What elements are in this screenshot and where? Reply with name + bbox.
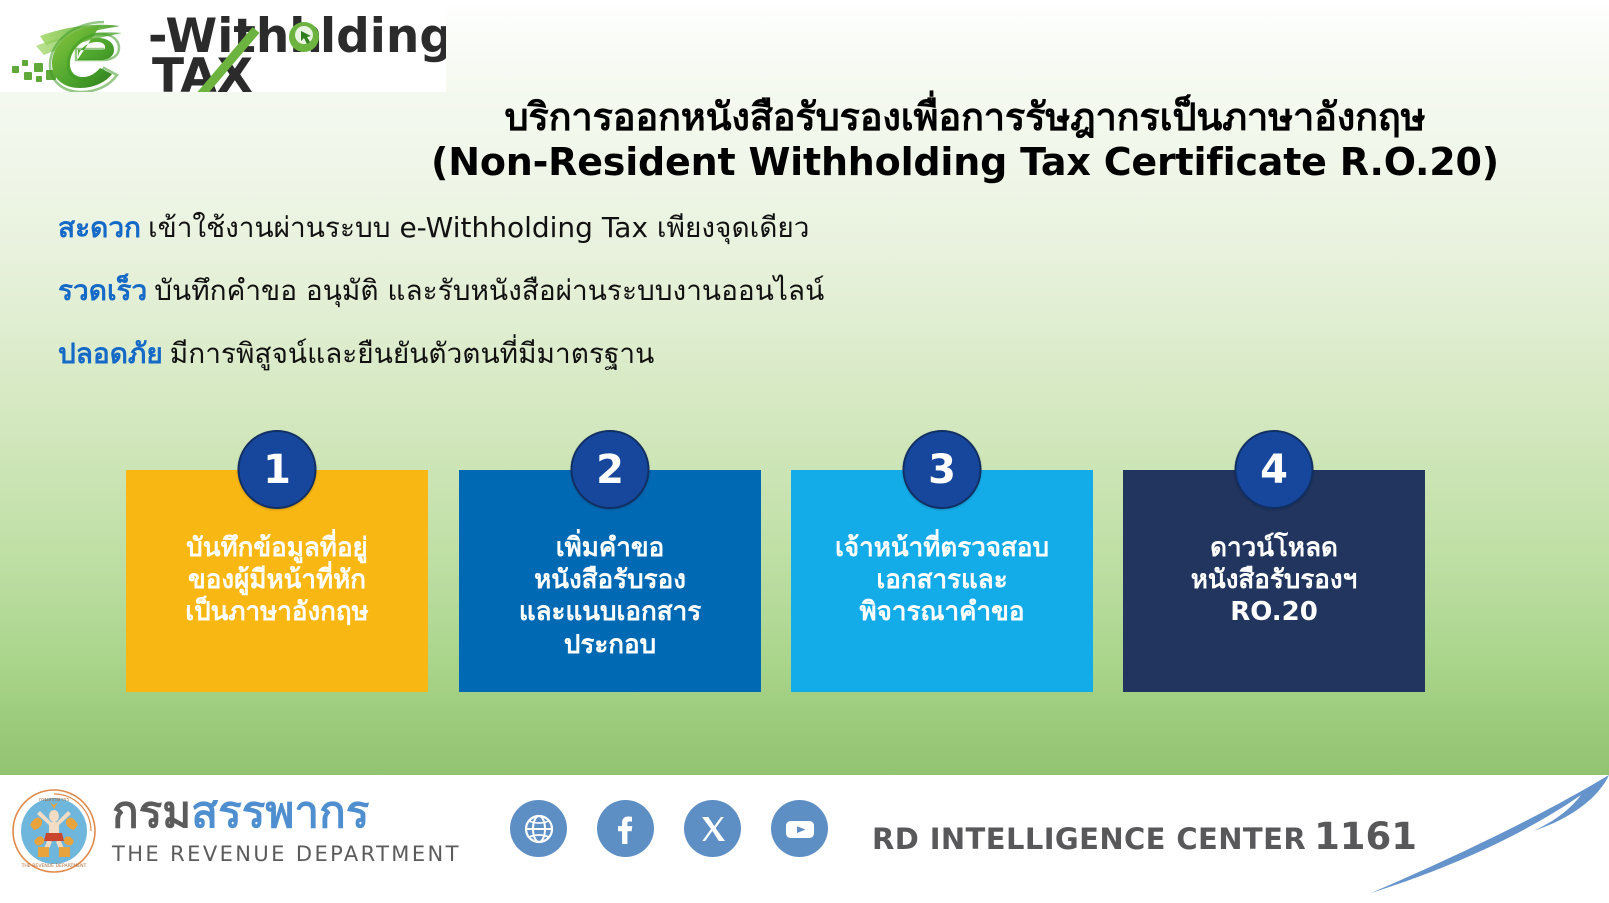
step-line: พิจารณาคำขอ bbox=[797, 596, 1087, 628]
benefit-description: บันทึกคำขอ อนุมัติ และรับหนังสือผ่านระบบ… bbox=[154, 274, 824, 307]
benefit-item-secure: ปลอดภัยมีการพิสูจน์และยืนยันตัวตนที่มีมา… bbox=[58, 340, 1258, 368]
org-name-thai: กรมสรรพากร bbox=[112, 791, 482, 835]
step-card-1: 1 บันทึกข้อมูลที่อยู่ ของผู้มีหน้าที่หัก… bbox=[126, 470, 428, 692]
step-line: RO.20 bbox=[1129, 596, 1419, 628]
svg-text:THE REVENUE DEPARTMENT: THE REVENUE DEPARTMENT bbox=[21, 863, 87, 869]
step-number-badge-1: 1 bbox=[238, 430, 317, 509]
title-thai: บริการออกหนังสือรับรองเพื่อการรัษฎากรเป็… bbox=[330, 96, 1600, 139]
step-text-2: เพิ่มคำขอ หนังสือรับรอง และแนบเอกสาร ประ… bbox=[459, 532, 761, 661]
org-name-thai-part2: สรรพากร bbox=[191, 787, 369, 838]
step-line: เป็นภาษาอังกฤษ bbox=[132, 596, 422, 628]
benefit-item-convenient: สะดวกเข้าใช้งานผ่านระบบ e-Withholding Ta… bbox=[58, 214, 1258, 242]
step-card-2: 2 เพิ่มคำขอ หนังสือรับรอง และแนบเอกสาร ป… bbox=[459, 470, 761, 692]
youtube-play-icon bbox=[781, 810, 819, 848]
footer-bar: กรมสรรพากร THE REVENUE DEPARTMENT กรมสรร… bbox=[0, 775, 1609, 903]
benefit-keyword: สะดวก bbox=[58, 211, 141, 244]
benefit-description: เข้าใช้งานผ่านระบบ e-Withholding Tax เพี… bbox=[148, 211, 810, 244]
benefit-keyword: ปลอดภัย bbox=[58, 337, 163, 370]
step-number-badge-4: 4 bbox=[1235, 430, 1314, 509]
benefit-keyword: รวดเร็ว bbox=[58, 274, 147, 307]
page-title: บริการออกหนังสือรับรองเพื่อการรัษฎากรเป็… bbox=[330, 96, 1600, 185]
step-line: เจ้าหน้าที่ตรวจสอบ bbox=[797, 532, 1087, 564]
step-line: และแนบเอกสาร bbox=[465, 596, 755, 628]
facebook-icon[interactable] bbox=[597, 800, 654, 857]
logo-artwork: -Withh lding TAX bbox=[0, 0, 446, 92]
globe-icon bbox=[521, 811, 557, 847]
infographic-poster: -Withh lding TAX บริการออกหนังสือรับรองเ… bbox=[0, 0, 1609, 903]
step-line: ของผู้มีหน้าที่หัก bbox=[132, 564, 422, 596]
step-line: หนังสือรับรอง bbox=[465, 564, 755, 596]
revenue-department-wordmark: กรมสรรพากร THE REVENUE DEPARTMENT bbox=[112, 791, 482, 866]
step-line: ประกอบ bbox=[465, 629, 755, 661]
benefits-list: สะดวกเข้าใช้งานผ่านระบบ e-Withholding Ta… bbox=[58, 214, 1258, 403]
step-line: ดาวน์โหลด bbox=[1129, 532, 1419, 564]
step-number-badge-3: 3 bbox=[903, 430, 982, 509]
step-line: บันทึกข้อมูลที่อยู่ bbox=[132, 532, 422, 564]
title-english: (Non-Resident Withholding Tax Certificat… bbox=[330, 141, 1600, 184]
svg-text:lding: lding bbox=[320, 9, 446, 64]
blue-swoosh-decoration bbox=[1319, 775, 1609, 903]
revenue-department-seal-icon: กรมสรรพากร THE REVENUE DEPARTMENT bbox=[12, 789, 96, 873]
step-number-badge-2: 2 bbox=[571, 430, 650, 509]
step-text-1: บันทึกข้อมูลที่อยู่ ของผู้มีหน้าที่หัก เ… bbox=[126, 532, 428, 629]
facebook-f-icon bbox=[608, 811, 644, 847]
contact-label: RD INTELLIGENCE CENTER bbox=[872, 822, 1306, 856]
process-steps: 1 บันทึกข้อมูลที่อยู่ ของผู้มีหน้าที่หัก… bbox=[126, 430, 1486, 690]
step-line: เพิ่มคำขอ bbox=[465, 532, 755, 564]
svg-text:กรมสรรพากร: กรมสรรพากร bbox=[39, 797, 70, 803]
benefit-description: มีการพิสูจน์และยืนยันตัวตนที่มีมาตรฐาน bbox=[170, 337, 654, 370]
step-text-4: ดาวน์โหลด หนังสือรับรองฯ RO.20 bbox=[1123, 532, 1425, 629]
org-name-english: THE REVENUE DEPARTMENT bbox=[112, 842, 482, 866]
social-links bbox=[510, 800, 828, 857]
org-name-thai-part1: กรม bbox=[112, 787, 191, 838]
step-line: เอกสารและ bbox=[797, 564, 1087, 596]
youtube-icon[interactable] bbox=[771, 800, 828, 857]
x-twitter-icon[interactable] bbox=[684, 800, 741, 857]
benefit-item-fast: รวดเร็วบันทึกคำขอ อนุมัติ และรับหนังสือผ… bbox=[58, 277, 1258, 305]
step-card-3: 3 เจ้าหน้าที่ตรวจสอบ เอกสารและ พิจารณาคำ… bbox=[791, 470, 1093, 692]
x-logo-icon bbox=[696, 812, 730, 846]
step-card-4: 4 ดาวน์โหลด หนังสือรับรองฯ RO.20 bbox=[1123, 470, 1425, 692]
step-line: หนังสือรับรองฯ bbox=[1129, 564, 1419, 596]
step-text-3: เจ้าหน้าที่ตรวจสอบ เอกสารและ พิจารณาคำขอ bbox=[791, 532, 1093, 629]
e-withholding-tax-logo: -Withh lding TAX bbox=[0, 0, 446, 92]
website-icon[interactable] bbox=[510, 800, 567, 857]
